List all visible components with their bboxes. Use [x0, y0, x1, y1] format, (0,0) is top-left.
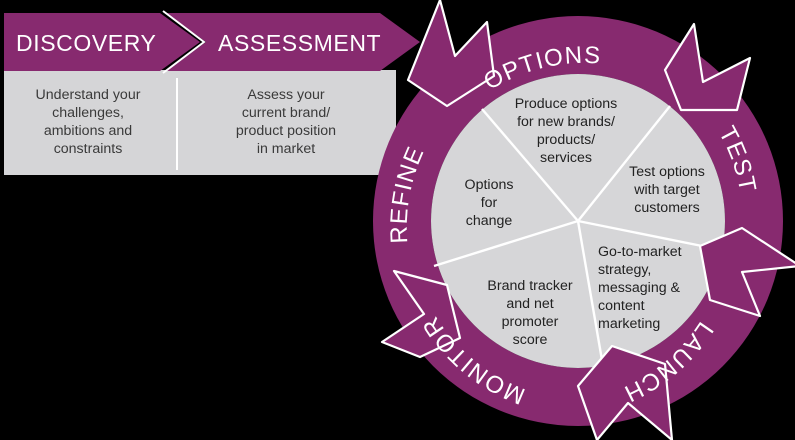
launch-line-1: Go-to-market — [598, 244, 682, 260]
monitor-line-2: and net — [506, 296, 553, 312]
monitor-line-4: score — [513, 332, 548, 348]
test-line-3: customers — [634, 200, 699, 216]
test-line-2: with target — [633, 182, 700, 198]
test-line-1: Test options — [629, 164, 705, 180]
monitor-line-3: promoter — [502, 314, 559, 330]
cycle-diagram-group: OPTIONS TEST LAUNCH MONITOR REFI — [0, 0, 795, 440]
options-line-1: Produce options — [515, 96, 618, 112]
options-line-3: products/ — [537, 132, 595, 148]
launch-line-5: marketing — [598, 316, 660, 332]
refine-line-2: for — [481, 195, 498, 211]
diagram-canvas: DISCOVERY ASSESSMENT Understand your cha… — [0, 0, 795, 440]
launch-line-4: content — [598, 298, 645, 314]
options-line-4: services — [540, 150, 592, 166]
monitor-line-1: Brand tracker — [487, 278, 572, 294]
refine-line-1: Options — [465, 177, 514, 193]
refine-line-3: change — [466, 213, 513, 229]
launch-line-2: strategy, — [598, 262, 651, 278]
options-line-2: for new brands/ — [517, 114, 615, 130]
launch-line-3: messaging & — [598, 280, 681, 296]
slice-text-test: Test options with target customers — [629, 164, 705, 216]
